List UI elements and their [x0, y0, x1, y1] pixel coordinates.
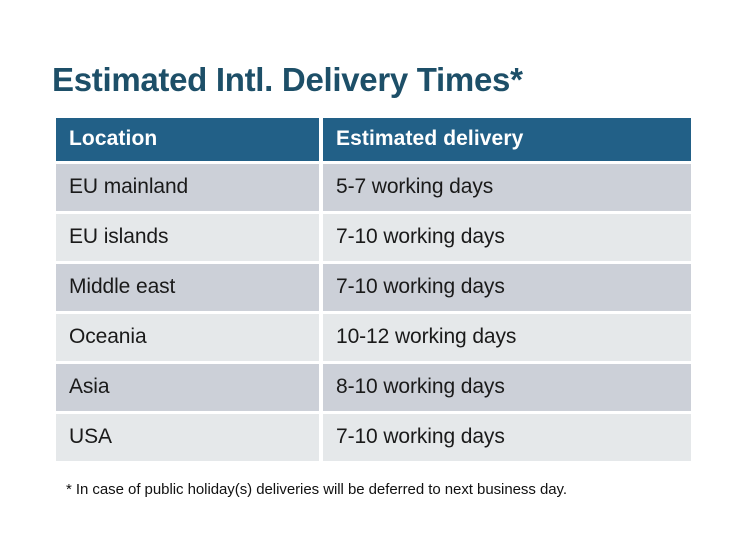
table-row: Asia 8-10 working days [56, 364, 691, 411]
table-header-row: Location Estimated delivery [56, 118, 691, 161]
footnote: * In case of public holiday(s) deliverie… [66, 481, 567, 498]
cell-location: EU mainland [56, 164, 319, 211]
cell-delivery: 10-12 working days [323, 314, 691, 361]
cell-location: Oceania [56, 314, 319, 361]
table-row: USA 7-10 working days [56, 414, 691, 461]
cell-delivery: 7-10 working days [323, 264, 691, 311]
cell-location: USA [56, 414, 319, 461]
table-row: Middle east 7-10 working days [56, 264, 691, 311]
delivery-times-table: Location Estimated delivery EU mainland … [52, 115, 695, 464]
cell-delivery: 7-10 working days [323, 414, 691, 461]
page-title: Estimated Intl. Delivery Times* [52, 60, 523, 100]
column-header-location: Location [56, 118, 319, 161]
cell-delivery: 7-10 working days [323, 214, 691, 261]
cell-location: Middle east [56, 264, 319, 311]
cell-delivery: 5-7 working days [323, 164, 691, 211]
table-row: Oceania 10-12 working days [56, 314, 691, 361]
delivery-times-page: Estimated Intl. Delivery Times* Location… [0, 0, 745, 536]
cell-delivery: 8-10 working days [323, 364, 691, 411]
cell-location: Asia [56, 364, 319, 411]
column-header-estimated-delivery: Estimated delivery [323, 118, 691, 161]
table-row: EU islands 7-10 working days [56, 214, 691, 261]
table-header: Location Estimated delivery [56, 118, 691, 161]
table-body: EU mainland 5-7 working days EU islands … [56, 164, 691, 461]
table-row: EU mainland 5-7 working days [56, 164, 691, 211]
cell-location: EU islands [56, 214, 319, 261]
